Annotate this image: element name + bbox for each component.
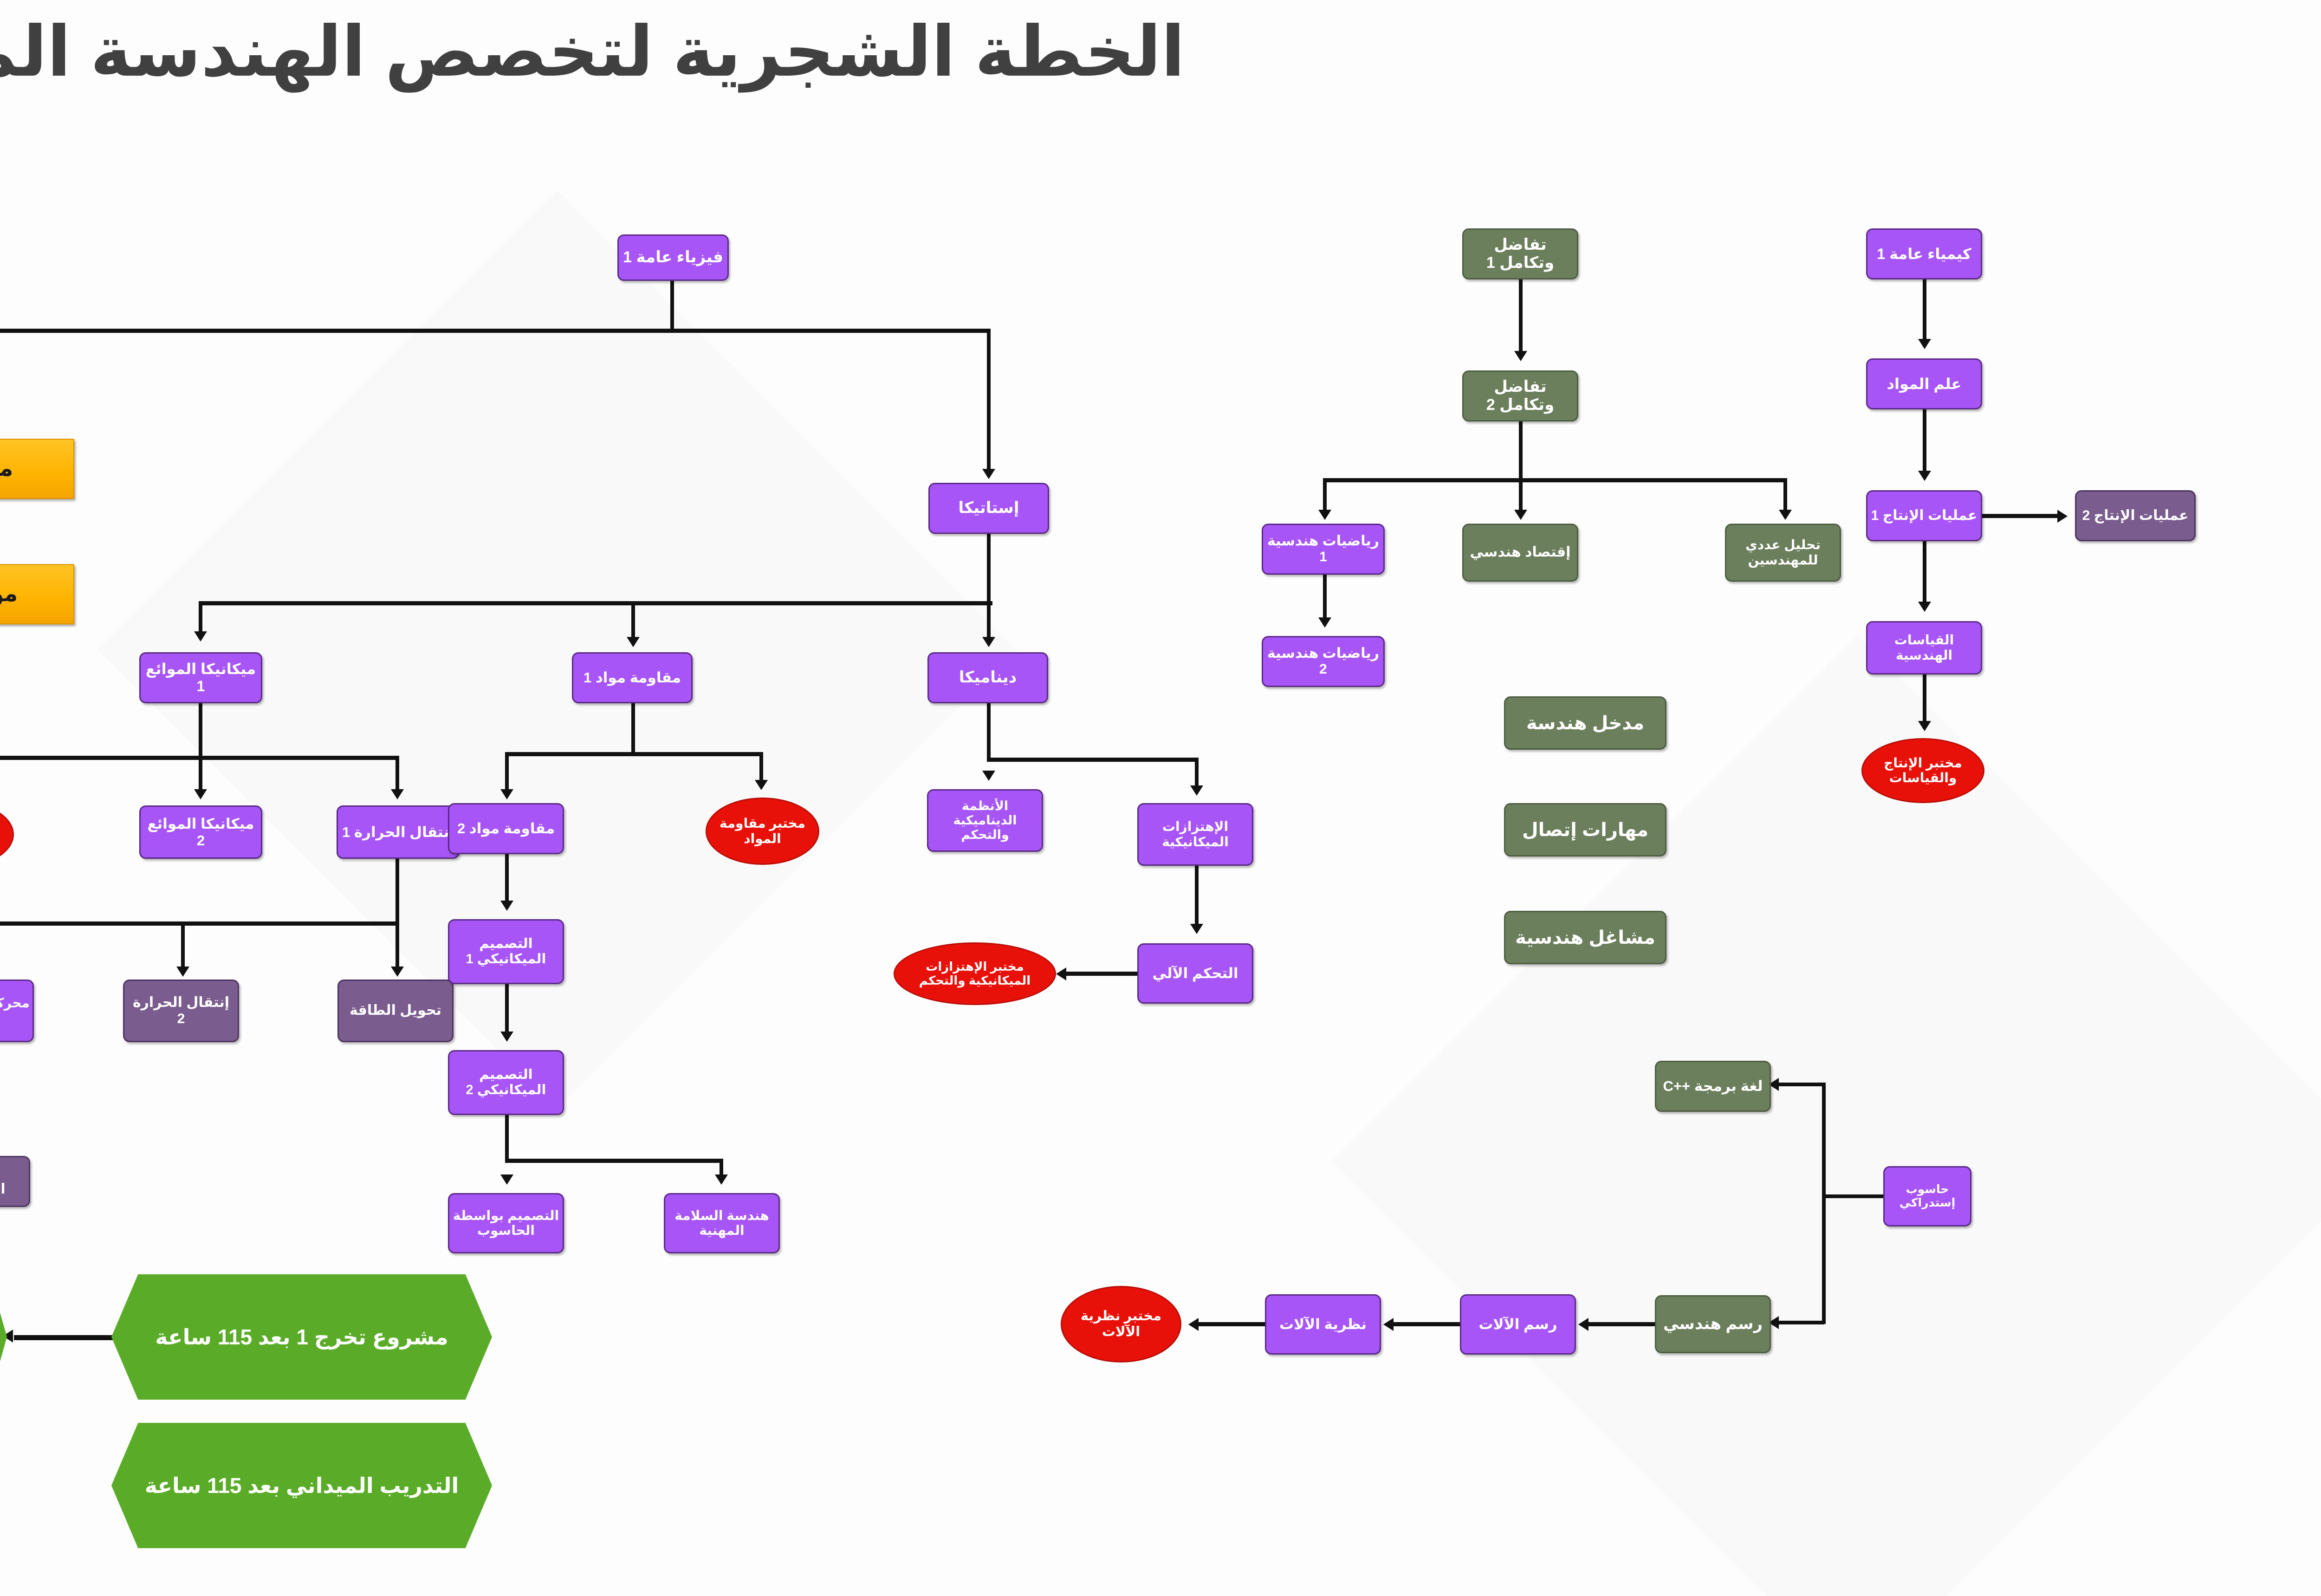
node-label: مقاومة مواد 1 xyxy=(583,669,681,686)
connector xyxy=(505,752,763,756)
node-strength1[interactable]: مقاومة مواد 1 xyxy=(572,652,693,703)
node-label: رياضيات هندسية 1 xyxy=(1266,533,1381,565)
arrow-icon xyxy=(391,967,404,977)
node-label: مقاومة مواد 2 xyxy=(457,820,555,837)
arrow-icon xyxy=(1779,510,1792,520)
connector xyxy=(1923,675,1926,728)
node-label: مشروع تخرج 1 بعد 115 ساعة xyxy=(155,1325,448,1349)
node-cad-design[interactable]: التصميم بواسطة الحاسوب xyxy=(448,1193,564,1253)
node-label: إنتقال الحرارة 2 xyxy=(127,995,235,1027)
connector xyxy=(199,601,202,636)
connector xyxy=(395,921,399,970)
note-label: مواد جامعة إجبارية 15 ساعة xyxy=(0,456,13,481)
node-ic-engines[interactable]: محركات الإحتراق الداخلي xyxy=(0,980,34,1042)
connector xyxy=(631,601,635,641)
node-label: هندسة السلامة المهنية xyxy=(668,1208,776,1238)
connector xyxy=(1822,1083,1826,1324)
node-cpp[interactable]: لغة برمجة ++C xyxy=(1655,1061,1771,1112)
node-label: إنتقال الحرارة 1 xyxy=(342,824,454,841)
arrow-icon xyxy=(982,469,995,479)
arrow-icon xyxy=(982,771,995,781)
node-machine-theory-lab[interactable]: مختبر نظرية الآلات xyxy=(1061,1286,1181,1362)
node-remedial-computer[interactable]: حاسوب إستدراكي xyxy=(1883,1166,1971,1226)
node-label: رسم هندسي xyxy=(1663,1315,1763,1333)
node-label: ميكانيكا الموائع 2 xyxy=(143,816,258,849)
node-label: التحكم الآلي xyxy=(1153,965,1238,982)
connector xyxy=(199,756,202,793)
node-safety-eng[interactable]: هندسة السلامة المهنية xyxy=(664,1193,780,1253)
node-label: حاسوب إستدراكي xyxy=(1887,1183,1967,1210)
connector xyxy=(670,281,674,332)
note-label: مواد جامعة إختيارية 12 ساعة xyxy=(0,581,18,607)
arrow-icon xyxy=(500,1032,513,1042)
connector xyxy=(505,752,509,794)
arrow-icon xyxy=(1514,510,1527,520)
arrow-icon xyxy=(1190,924,1203,934)
arrow-icon xyxy=(1190,785,1203,796)
connector xyxy=(987,758,1199,762)
node-label: التصميم بواسطة الحاسوب xyxy=(452,1208,560,1238)
arrow-icon xyxy=(1383,1318,1394,1331)
node-statics[interactable]: إستاتيكا xyxy=(928,483,1049,534)
node-label: رياضيات هندسية 2 xyxy=(1266,646,1381,678)
node-label: علم المواد xyxy=(1887,376,1962,393)
node-numerical-analysis[interactable]: تحليل عددي للمهندسين xyxy=(1725,524,1841,582)
page-title: الخطة الشجرية لتخصص الهندسة الميكانيكية … xyxy=(0,12,1430,92)
arrow-icon xyxy=(715,1174,728,1185)
connector xyxy=(395,859,399,924)
node-label: ميكانيكا الموائع 1 xyxy=(143,661,258,695)
connector xyxy=(1923,279,1926,344)
node-label: تحويل الطاقة xyxy=(350,1003,441,1019)
connector xyxy=(1065,972,1140,976)
node-label: تفاضل وتكامل 2 xyxy=(1466,378,1574,414)
arrow-icon xyxy=(1918,471,1931,481)
node-vibration-lab[interactable]: مختبر الإهتزازات الميكانيكية والتحكم xyxy=(894,942,1056,1005)
arrow-icon xyxy=(194,789,207,799)
node-label: الأنظمة الديناميكية والتحكم xyxy=(931,799,1039,842)
diagram-canvas: الخطة الشجرية لتخصص الهندسة الميكانيكية … xyxy=(0,0,2321,1596)
connector xyxy=(505,1159,723,1163)
arrow-icon xyxy=(500,789,513,799)
connector xyxy=(1778,1321,1824,1324)
note-university-required: مواد جامعة إجبارية 15 ساعة xyxy=(0,439,74,499)
connector xyxy=(0,329,673,333)
node-mech-design1[interactable]: التصميم الميكانيكي 1 xyxy=(448,919,564,984)
node-label: عمليات الإنتاج 1 xyxy=(1871,508,1977,524)
node-label: مختبر الإهتزازات الميكانيكية والتحكم xyxy=(898,960,1052,988)
node-label: مختبر مقاومة المواد xyxy=(710,816,815,846)
node-heat-transfer1[interactable]: إنتقال الحرارة 1 xyxy=(337,805,460,859)
connector xyxy=(14,1335,121,1340)
node-label: الإهتزازات الميكانيكية xyxy=(1141,819,1249,849)
arrow-icon xyxy=(982,637,995,647)
connector xyxy=(1195,866,1199,928)
node-comm-skills[interactable]: مهارات إتصال xyxy=(1504,803,1666,856)
node-strength2[interactable]: مقاومة مواد 2 xyxy=(448,803,564,854)
arrow-icon xyxy=(1918,721,1931,731)
arrow-icon xyxy=(1514,351,1527,361)
arrow-icon xyxy=(755,780,768,790)
arrow-icon xyxy=(194,631,207,642)
connector xyxy=(987,534,991,601)
node-eng-workshops[interactable]: مشاغل هندسية xyxy=(1504,911,1666,964)
connector xyxy=(199,601,992,605)
node-label: رسم الآلات xyxy=(1478,1316,1557,1333)
node-mech-vibrations[interactable]: الإهتزازات الميكانيكية xyxy=(1137,803,1253,866)
connector xyxy=(395,756,399,793)
node-label: مختبر نظرية الآلات xyxy=(1065,1309,1177,1340)
connector xyxy=(987,601,991,641)
node-label: التصميم الميكانيكي 2 xyxy=(452,1067,560,1098)
connector xyxy=(670,329,991,333)
connector xyxy=(1588,1322,1657,1326)
connector xyxy=(1323,478,1787,482)
arrow-icon xyxy=(500,901,513,911)
node-eng-measurements[interactable]: القياسات الهندسية xyxy=(1866,621,1982,675)
node-machine-drawing[interactable]: رسم الآلات xyxy=(1460,1294,1576,1355)
node-energy-conversion[interactable]: تحويل الطاقة xyxy=(337,980,454,1042)
node-label: مختبر الإنتاج والقياسات xyxy=(1866,756,1980,785)
node-label: تفاضل وتكامل 1 xyxy=(1466,236,1574,272)
node-fluids1[interactable]: ميكانيكا الموائع 1 xyxy=(139,652,262,703)
node-strength-lab[interactable]: مختبر مقاومة المواد xyxy=(706,798,819,865)
connector xyxy=(1923,409,1926,477)
node-label: ديناميكا xyxy=(959,668,1017,687)
arrow-icon xyxy=(2057,510,2068,523)
connector xyxy=(987,329,991,473)
node-dynamic-systems[interactable]: الأنظمة الديناميكية والتحكم xyxy=(927,789,1043,852)
node-eng-drawing[interactable]: رسم هندسي xyxy=(1655,1295,1771,1353)
node-materials-science[interactable]: علم المواد xyxy=(1866,358,1982,409)
arrow-icon xyxy=(1918,339,1931,349)
connector xyxy=(1778,1083,1824,1086)
node-label: مشاغل هندسية xyxy=(1515,927,1655,948)
node-label: مدخل هندسة xyxy=(1526,713,1644,734)
node-production1[interactable]: عمليات الإنتاج 1 xyxy=(1866,490,1982,541)
node-mech-design2[interactable]: التصميم الميكانيكي 2 xyxy=(448,1050,564,1115)
node-label: مختبر ميكانيكا الموائع xyxy=(0,819,10,849)
arrow-icon xyxy=(627,637,640,647)
arrow-icon xyxy=(391,789,404,799)
node-label: إقتصاد هندسي xyxy=(1470,545,1571,561)
connector xyxy=(1519,279,1523,356)
node-label: كيمياء عامة 1 xyxy=(1877,246,1971,263)
note-university-elective: مواد جامعة إختيارية 12 ساعة xyxy=(0,564,74,624)
arrow-icon xyxy=(176,967,189,977)
connector xyxy=(1393,1322,1462,1326)
node-chemistry1[interactable]: كيمياء عامة 1 xyxy=(1866,228,1982,279)
connector xyxy=(505,1115,509,1161)
node-label: فيزياء عامة 1 xyxy=(623,248,723,266)
connector xyxy=(199,703,202,757)
node-machine-theory[interactable]: نظرية الآلات xyxy=(1265,1294,1381,1355)
node-label: نظرية الآلات xyxy=(1279,1316,1367,1333)
node-vehicle-eng[interactable]: هندسة السيارات xyxy=(0,1156,30,1207)
node-production-lab[interactable]: مختبر الإنتاج والقياسات xyxy=(1861,738,1984,803)
node-dynamics[interactable]: ديناميكا xyxy=(927,652,1048,703)
node-heat-transfer2[interactable]: إنتقال الحرارة 2 xyxy=(123,980,239,1042)
node-label: القياسات الهندسية xyxy=(1870,633,1978,662)
node-label: تحليل عددي للمهندسين xyxy=(1729,538,1837,567)
connector xyxy=(1198,1322,1267,1326)
arrow-icon xyxy=(1188,1318,1199,1331)
node-calculus1[interactable]: تفاضل وتكامل 1 xyxy=(1462,228,1578,279)
background-diamond xyxy=(1332,636,2321,1596)
node-label: عمليات الإنتاج 2 xyxy=(2082,508,2189,524)
connector xyxy=(987,703,991,761)
node-intro-eng[interactable]: مدخل هندسة xyxy=(1504,696,1666,750)
node-grad-project2[interactable]: مشروع تخرج 2 xyxy=(0,1274,7,1400)
node-label: محركات الإحتراق الداخلي xyxy=(0,996,30,1025)
connector xyxy=(505,854,509,908)
connector xyxy=(181,921,185,970)
connector xyxy=(1982,514,2061,518)
node-label: التصميم الميكانيكي 1 xyxy=(452,936,560,967)
arrow-icon xyxy=(1918,602,1931,612)
node-label: التدريب الميداني بعد 115 ساعة xyxy=(145,1473,459,1498)
connector xyxy=(1519,422,1523,481)
connector xyxy=(505,984,509,1038)
node-eng-economy[interactable]: إقتصاد هندسي xyxy=(1462,524,1578,582)
arrow-icon xyxy=(1578,1318,1588,1331)
arrow-icon xyxy=(500,1174,513,1185)
arrow-icon xyxy=(1318,617,1331,628)
node-production2[interactable]: عمليات الإنتاج 2 xyxy=(2075,490,2196,541)
node-label: لغة برمجة ++C xyxy=(1663,1078,1763,1095)
node-physics1[interactable]: فيزياء عامة 1 xyxy=(617,234,729,281)
node-eng-math1[interactable]: رياضيات هندسية 1 xyxy=(1262,524,1385,575)
node-fluids-lab[interactable]: مختبر ميكانيكا الموائع xyxy=(0,801,14,868)
node-label: هندسة السيارات xyxy=(0,1166,26,1198)
node-label: مهارات إتصال xyxy=(1522,819,1648,841)
node-auto-control[interactable]: التحكم الآلي xyxy=(1137,943,1253,1004)
arrow-icon xyxy=(1056,967,1066,980)
connector xyxy=(0,921,399,926)
arrow-icon xyxy=(1318,510,1331,520)
node-eng-math2[interactable]: رياضيات هندسية 2 xyxy=(1262,636,1385,687)
node-grad-project1[interactable]: مشروع تخرج 1 بعد 115 ساعة xyxy=(111,1274,492,1400)
connector xyxy=(1822,1194,1885,1198)
connector xyxy=(631,703,635,754)
connector xyxy=(1923,541,1926,606)
node-label: إستاتيكا xyxy=(959,499,1019,517)
node-calculus2[interactable]: تفاضل وتكامل 2 xyxy=(1462,370,1578,422)
node-field-training[interactable]: التدريب الميداني بعد 115 ساعة xyxy=(111,1423,492,1548)
connector xyxy=(1323,575,1327,623)
node-fluids2[interactable]: ميكانيكا الموائع 2 xyxy=(139,805,262,859)
